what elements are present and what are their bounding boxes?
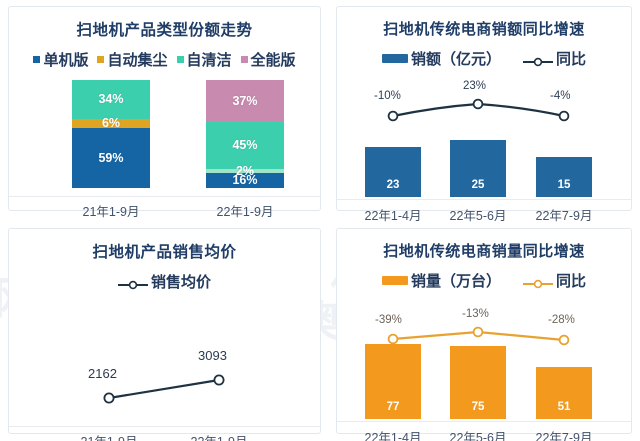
yoy-label-q2: 23% [463,80,486,92]
x-label-2022: 22年1-9月 [190,201,300,220]
x-label-q3: 22年7-9月 [516,427,612,441]
segment-label: 59% [98,152,123,165]
yoy-label-q2: -13% [462,308,489,320]
average-price-line-svg [9,298,320,418]
legend-label-sales-value: 销额（亿元） [411,48,501,69]
x-label-q3: 22年7-9月 [516,205,612,224]
x-axis-product-type-share: 21年1-9月 22年1-9月 [9,196,320,218]
combo-plot-area-sales-volume: 77 75 51 -39% -13% -28% [337,299,631,419]
panel-product-type-share: 扫地机产品类型份额走势 单机版 自动集尘 自清洁 全能版 [8,6,321,211]
legend-item-avg-price[interactable]: 销售均价 [118,271,211,292]
segment-label: 6% [102,117,120,130]
chart-title-sales-value-yoy: 扫地机传统电商销额同比增速 [337,18,631,39]
segment-autodust-2021: 6% [72,119,150,128]
legend-label-single: 单机版 [43,49,88,70]
segment-label: 34% [98,93,123,106]
legend-item-yoy[interactable]: 同比 [523,48,586,69]
legend-item-sales-volume[interactable]: 销量（万台） [382,270,501,291]
legend-item-selfclean[interactable]: 自清洁 [177,49,232,70]
legend-item-single[interactable]: 单机版 [33,49,88,70]
value-label-2021: 2162 [88,366,117,381]
legend-label-yoy: 同比 [556,48,586,69]
x-axis-sales-value-yoy: 22年1-4月 22年5-6月 22年7-9月 [337,199,631,223]
legend-average-price: 销售均价 [9,271,320,292]
x-label-q1: 22年1-4月 [345,205,441,224]
yoy-label-q1: -39% [375,314,402,326]
chart-title-sales-volume-yoy: 扫地机传统电商销量同比增速 [337,240,631,261]
segment-single-2022: 16% [206,173,284,188]
legend-sales-volume-yoy: 销量（万台） 同比 [337,270,631,291]
line-plot-area-average-price: 2162 3093 [9,298,320,418]
square-swatch-icon [97,56,104,63]
legend-item-sales-value[interactable]: 销额（亿元） [382,48,501,69]
legend-label-sales-volume: 销量（万台） [411,270,501,291]
infographic-root: AVC AVC 网 奥 奥 佳云 ALL VIDEO CLOUD ALL VID… [0,0,640,441]
line-marker-icon [523,276,553,286]
x-label-q2: 22年5-6月 [430,205,526,224]
line-marker-icon [118,277,148,287]
stacked-bar-2022[interactable]: 37% 45% 2% 16% [206,80,284,188]
legend-label-avg-price: 销售均价 [151,271,211,292]
bar-swatch-icon [382,276,408,285]
square-swatch-icon [33,56,40,63]
chart-title-average-price: 扫地机产品销售均价 [9,240,320,262]
stacked-bar-plot-area: 34% 6% 59% 37% 45% 2% [9,80,320,188]
panel-average-price: 扫地机产品销售均价 销售均价 2162 3093 [8,228,321,434]
x-axis-average-price: 21年1-9月 22年1-9月 [9,426,320,441]
legend-label-allinone: 全能版 [251,49,296,70]
legend-label-selfclean: 自清洁 [187,49,232,70]
x-axis-sales-volume-yoy: 22年1-4月 22年5-6月 22年7-9月 [337,421,631,441]
yoy-label-q3: -28% [548,314,575,326]
x-label-q1: 22年1-4月 [345,427,441,441]
x-label-2021: 21年1-9月 [56,201,166,220]
value-label-2022: 3093 [198,348,227,363]
bar-swatch-icon [382,54,408,63]
segment-selfclean-2021: 34% [72,80,150,119]
legend-sales-value-yoy: 销额（亿元） 同比 [337,48,631,69]
line-marker-icon [523,54,553,64]
yoy-label-q1: -10% [374,90,401,102]
legend-product-type-share: 单机版 自动集尘 自清洁 全能版 [9,49,320,70]
legend-label-autodust: 自动集尘 [107,49,167,70]
legend-item-allinone[interactable]: 全能版 [241,49,296,70]
yoy-label-q3: -4% [550,90,570,102]
chart-title-product-type-share: 扫地机产品类型份额走势 [9,18,320,40]
segment-label: 37% [232,95,257,108]
x-label-2022: 22年1-9月 [164,431,274,441]
x-label-2021: 21年1-9月 [54,431,164,441]
segment-label: 45% [232,139,257,152]
segment-selfclean-2022: 45% [206,122,284,169]
panel-sales-volume-yoy: 扫地机传统电商销量同比增速 销量（万台） 同比 77 [336,228,632,434]
combo-plot-area-sales-value: 23 25 15 -10% 23% -4% [337,77,631,197]
square-swatch-icon [241,56,248,63]
panel-sales-value-yoy: 扫地机传统电商销额同比增速 销额（亿元） 同比 23 [336,6,632,211]
legend-label-yoy: 同比 [556,270,586,291]
legend-item-yoy[interactable]: 同比 [523,270,586,291]
segment-allinone-2022: 37% [206,80,284,122]
segment-single-2021: 59% [72,128,150,188]
segment-label: 16% [232,174,257,187]
legend-item-autodust[interactable]: 自动集尘 [97,49,167,70]
stacked-bar-2021[interactable]: 34% 6% 59% [72,80,150,188]
x-label-q2: 22年5-6月 [430,427,526,441]
square-swatch-icon [177,56,184,63]
